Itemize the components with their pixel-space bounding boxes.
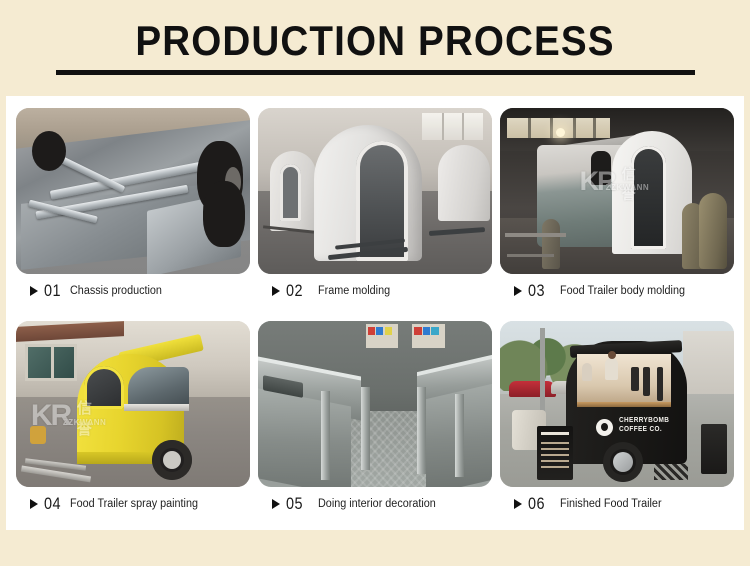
title-underline-rule bbox=[56, 70, 695, 75]
step-caption: 06 Finished Food Trailer bbox=[500, 491, 734, 517]
triangle-right-icon bbox=[30, 286, 38, 296]
trailer-brand-logo: CHERRYBOMB COFFEE CO. bbox=[596, 417, 676, 439]
step-photo-finished-trailer: CHERRYBOMB COFFEE CO. bbox=[500, 321, 734, 487]
step-number: 03 bbox=[528, 281, 545, 301]
step-caption: 03 Food Trailer body molding bbox=[500, 278, 734, 304]
step-label: Finished Food Trailer bbox=[560, 498, 662, 510]
footer-band bbox=[0, 530, 750, 566]
step-number: 06 bbox=[528, 494, 545, 514]
process-step-card[interactable]: KR 信誉 ZZKWANN 03 Food Trailer body moldi… bbox=[500, 108, 734, 304]
triangle-right-icon bbox=[514, 286, 522, 296]
production-process-poster: PRODUCTION PROCESS bbox=[0, 0, 750, 566]
triangle-right-icon bbox=[272, 286, 280, 296]
step-label: Frame molding bbox=[318, 285, 390, 297]
triangle-right-icon bbox=[272, 499, 280, 509]
process-step-card[interactable]: 05 Doing interior decoration bbox=[258, 321, 492, 517]
process-step-card[interactable]: 02 Frame molding bbox=[258, 108, 492, 304]
step-photo-chassis-production bbox=[16, 108, 250, 274]
content-panel: 01 Chassis production bbox=[6, 96, 744, 530]
step-photo-spray-painting: KR 信誉 ZZKWANN bbox=[16, 321, 250, 487]
process-step-card[interactable]: 01 Chassis production bbox=[16, 108, 250, 304]
step-number: 02 bbox=[286, 281, 303, 301]
step-photo-interior-decoration bbox=[258, 321, 492, 487]
process-step-card[interactable]: KR 信誉 ZZKWANN 04 Food Trailer spray pain… bbox=[16, 321, 250, 517]
process-step-grid: 01 Chassis production bbox=[16, 108, 734, 518]
trailer-brand-line2: COFFEE CO. bbox=[619, 426, 662, 433]
step-label: Doing interior decoration bbox=[318, 498, 436, 510]
process-step-card[interactable]: CHERRYBOMB COFFEE CO. 06 Finished bbox=[500, 321, 734, 517]
step-caption: 02 Frame molding bbox=[258, 278, 492, 304]
step-caption: 05 Doing interior decoration bbox=[258, 491, 492, 517]
step-photo-frame-molding bbox=[258, 108, 492, 274]
triangle-right-icon bbox=[514, 499, 522, 509]
a-frame-sign bbox=[537, 426, 573, 480]
page-title: PRODUCTION PROCESS bbox=[30, 18, 720, 64]
step-number: 05 bbox=[286, 494, 303, 514]
step-caption: 04 Food Trailer spray painting bbox=[16, 491, 250, 517]
trailer-brand-line1: CHERRYBOMB bbox=[619, 417, 669, 424]
poster-header: PRODUCTION PROCESS bbox=[0, 0, 750, 96]
step-photo-body-molding: KR 信誉 ZZKWANN bbox=[500, 108, 734, 274]
cherry-logo-icon bbox=[596, 419, 613, 436]
step-label: Food Trailer body molding bbox=[560, 285, 685, 297]
step-label: Food Trailer spray painting bbox=[70, 498, 198, 510]
step-caption: 01 Chassis production bbox=[16, 278, 250, 304]
triangle-right-icon bbox=[30, 499, 38, 509]
step-label: Chassis production bbox=[70, 285, 162, 297]
step-number: 04 bbox=[44, 494, 61, 514]
step-number: 01 bbox=[44, 281, 61, 301]
